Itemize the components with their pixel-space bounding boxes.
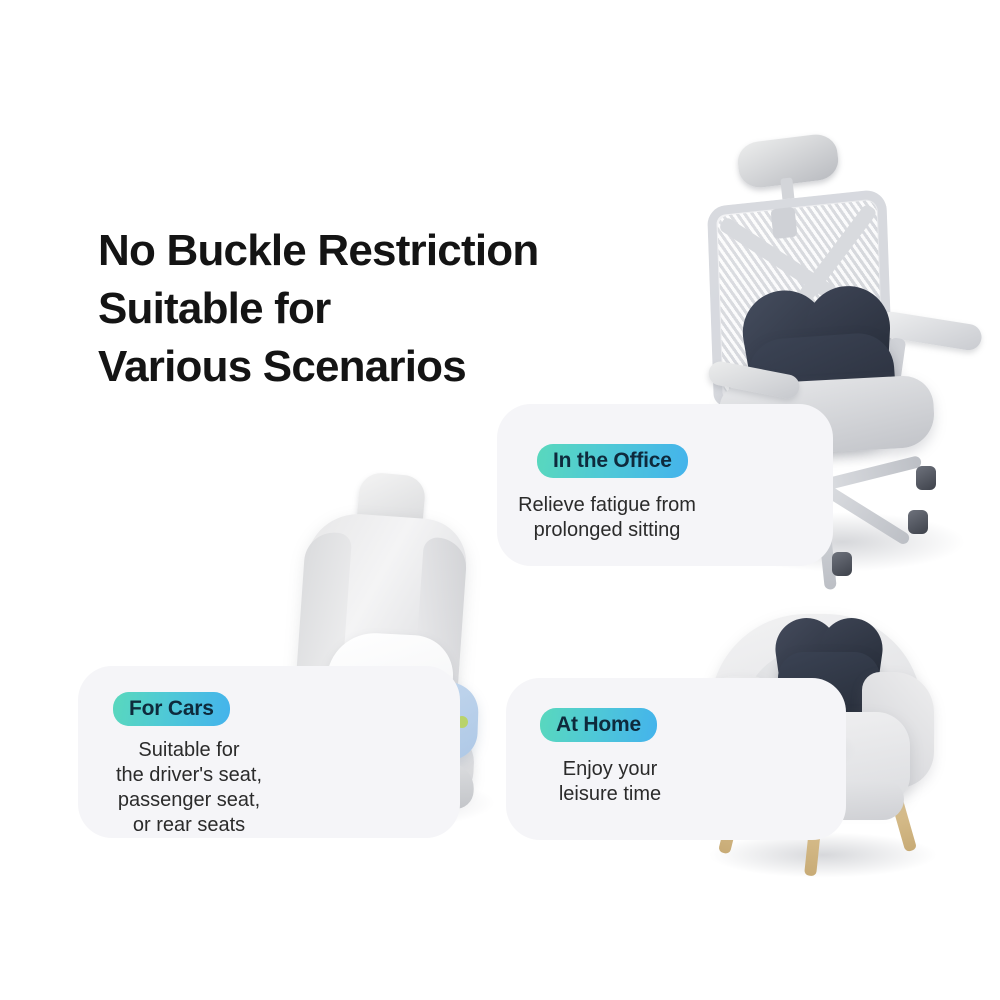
office-chair-lumbar-tab [770,207,797,239]
card-home-text-line-1: Enjoy your [530,757,690,782]
card-office-text-line-1: Relieve fatigue from [512,493,702,518]
headline-line-2: Suitable for [98,280,658,338]
card-cars-text-line-2: the driver's seat, [94,763,284,788]
card-cars-text-line-4: or rear seats [94,813,284,838]
card-cars-text: Suitable for the driver's seat, passenge… [94,738,284,838]
badge-office: In the Office [537,444,688,478]
badge-home: At Home [540,708,657,742]
card-office-text-line-2: prolonged sitting [512,518,702,543]
caster-4 [908,510,928,534]
card-cars-text-line-1: Suitable for [94,738,284,763]
headline-line-1: No Buckle Restriction [98,222,658,280]
headline-line-3: Various Scenarios [98,338,658,396]
card-home-text: Enjoy your leisure time [530,757,690,807]
caster-3 [832,552,852,576]
card-office-text: Relieve fatigue from prolonged sitting [512,493,702,543]
page-title: No Buckle Restriction Suitable for Vario… [98,222,658,396]
product-feature-image: No Buckle Restriction Suitable for Vario… [0,0,1000,1000]
card-home-text-line-2: leisure time [530,782,690,807]
base-leg-3 [819,455,923,492]
card-cars-text-line-3: passenger seat, [94,788,284,813]
caster-5 [916,466,936,490]
badge-cars: For Cars [113,692,230,726]
